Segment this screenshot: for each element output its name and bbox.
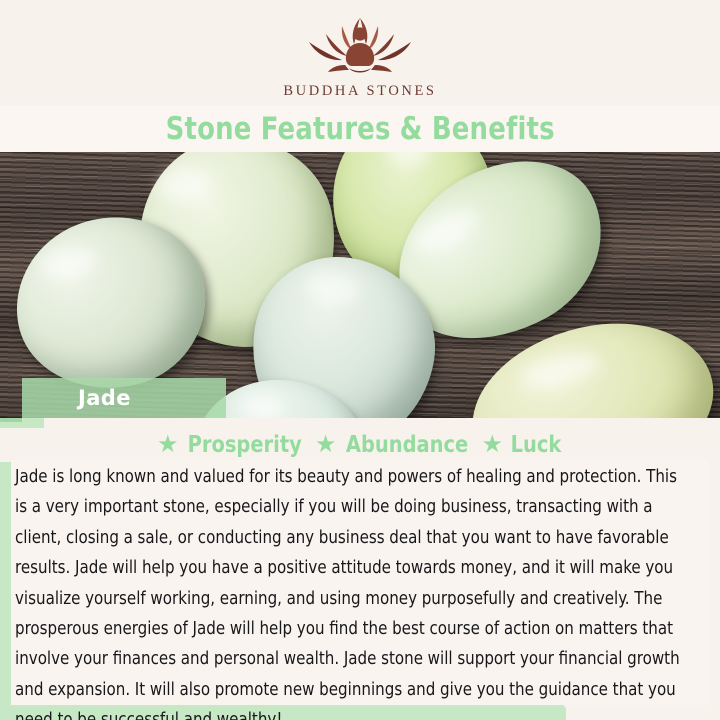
headline-banner: Stone Features & Benefits [0, 106, 720, 152]
brand-logo: BUDDHA STONES [0, 0, 720, 110]
keyword-abundance: ★ Abundance [315, 432, 473, 458]
description-text: Jade is long known and valued for its be… [15, 462, 681, 720]
keyword-label: Prosperity [188, 432, 302, 458]
star-icon: ★ [315, 433, 337, 457]
keyword-label: Luck [511, 432, 562, 458]
star-icon: ★ [157, 433, 179, 457]
stone-info-card: BUDDHA STONES Stone Features & Benefits [0, 0, 720, 720]
keyword-row: ★ Prosperity ★ Abundance ★ Luck [0, 428, 720, 462]
page-title: Stone Features & Benefits [165, 111, 554, 147]
keyword-label: Abundance [346, 432, 468, 458]
brand-name: BUDDHA STONES [283, 83, 436, 100]
keyword-luck: ★ Luck [482, 432, 563, 458]
star-icon: ★ [482, 433, 504, 457]
description-panel: Jade is long known and valued for its be… [11, 460, 709, 705]
stone-name-label: Jade [78, 386, 131, 410]
keyword-prosperity: ★ Prosperity [157, 432, 306, 458]
lotus-meditation-icon [285, 10, 435, 82]
stone-name-badge: Jade [22, 378, 226, 418]
